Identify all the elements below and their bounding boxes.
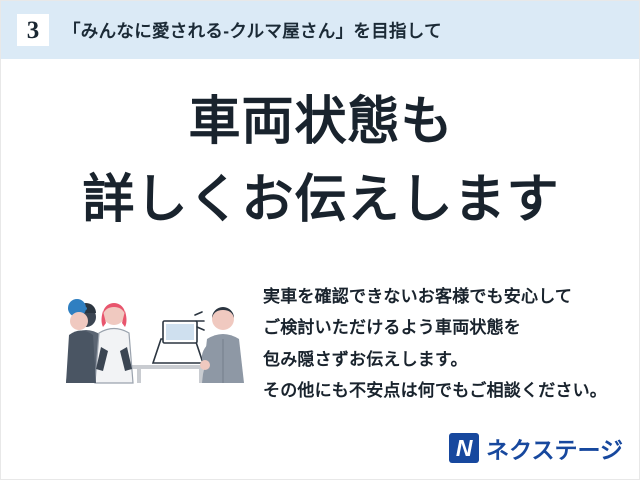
body-line-2: ご検討いただけるよう車両状態を (263, 312, 623, 343)
staff-explaining-to-customers-illustration (57, 277, 267, 387)
body-line-1: 実車を確認できないお客様でも安心して (263, 281, 623, 312)
section-number-badge: 3 (17, 14, 49, 46)
page-title: 車両状態も 詳しくお伝えします (1, 89, 640, 234)
nexstage-logo-icon: N (449, 433, 479, 463)
body-line-3: 包み隠さずお伝えします。 (263, 344, 623, 375)
brand-name: ネクステージ (486, 431, 623, 465)
headline-line-1: 車両状態も (1, 89, 640, 157)
body-copy: 実車を確認できないお客様でも安心して ご検討いただけるよう車両状態を 包み隠さず… (263, 281, 623, 407)
brand-logo: N ネクステージ (449, 431, 623, 465)
header-title: 「みんなに愛される‐クルマ屋さん」を目指して (63, 18, 442, 43)
body-line-4: その他にも不安点は何でもご相談ください。 (263, 375, 623, 406)
logo-mark-letter: N (449, 433, 479, 463)
promo-banner: 3 「みんなに愛される‐クルマ屋さん」を目指して 車両状態も 詳しくお伝えします (0, 0, 640, 480)
header-bar: 3 「みんなに愛される‐クルマ屋さん」を目指して (1, 1, 640, 59)
headline-line-2: 詳しくお伝えします (1, 167, 640, 235)
